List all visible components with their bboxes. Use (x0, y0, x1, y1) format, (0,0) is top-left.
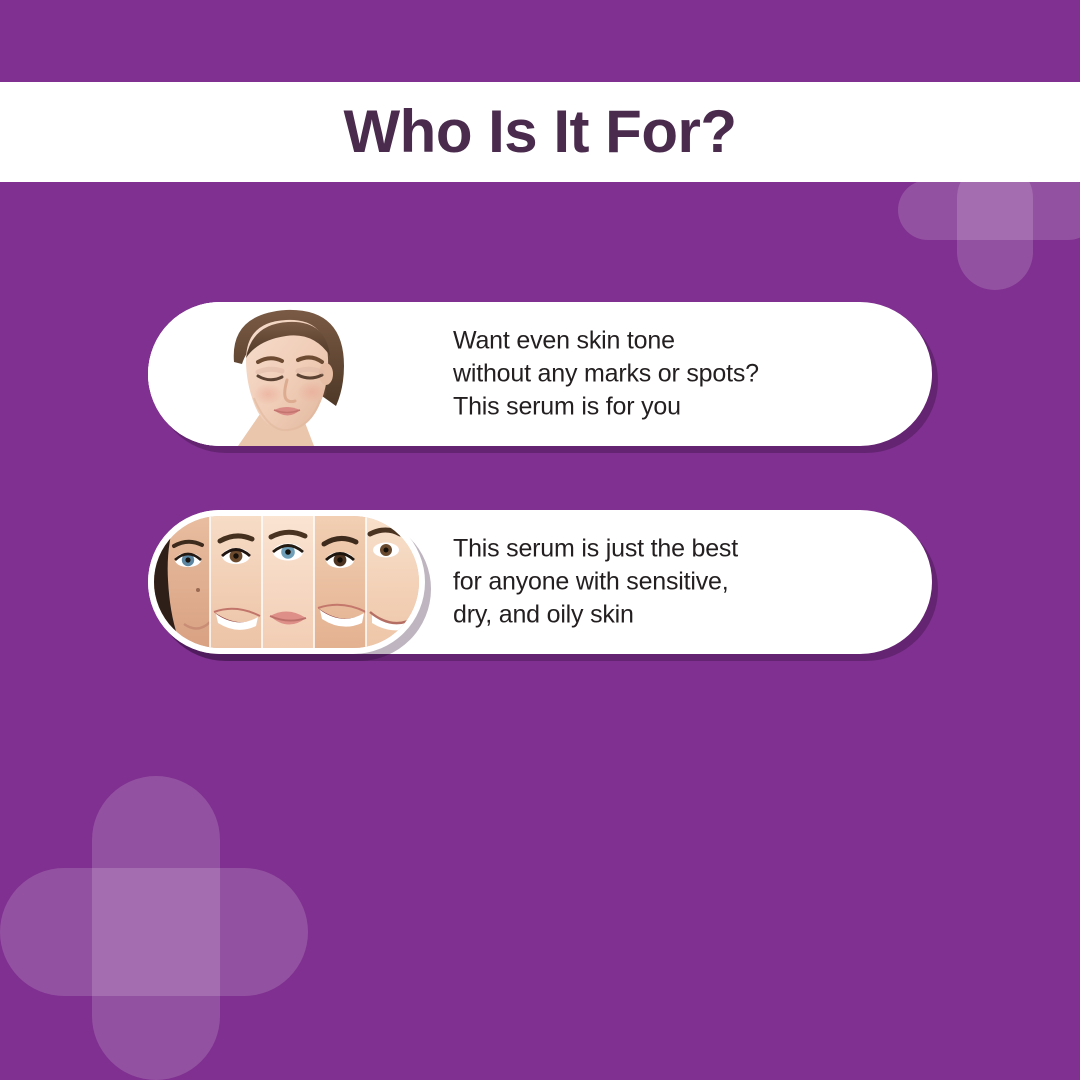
card-1-text: Want even skin tone without any marks or… (453, 325, 759, 424)
title-banner: Who Is It For? (0, 82, 1080, 182)
page-title: Who Is It For? (344, 102, 737, 162)
skin-type-collage-icon (154, 516, 419, 648)
collage-strips (154, 516, 419, 648)
woman-clear-skin-portrait-icon (148, 302, 425, 446)
audience-card-2[interactable]: This serum is just the best for anyone w… (148, 510, 932, 654)
plus-shape-bottom-left-horizontal-bar (0, 868, 308, 996)
card-1-photo (148, 302, 425, 446)
poster-canvas: Who Is It For? (0, 0, 1080, 1080)
card-2-text: This serum is just the best for anyone w… (453, 533, 738, 632)
plus-shape-top-right-horizontal-bar (898, 180, 1080, 240)
card-2-photo (148, 510, 425, 654)
audience-card-1[interactable]: Want even skin tone without any marks or… (148, 302, 932, 446)
plus-shape-bottom-left-vertical-bar (92, 776, 220, 1080)
